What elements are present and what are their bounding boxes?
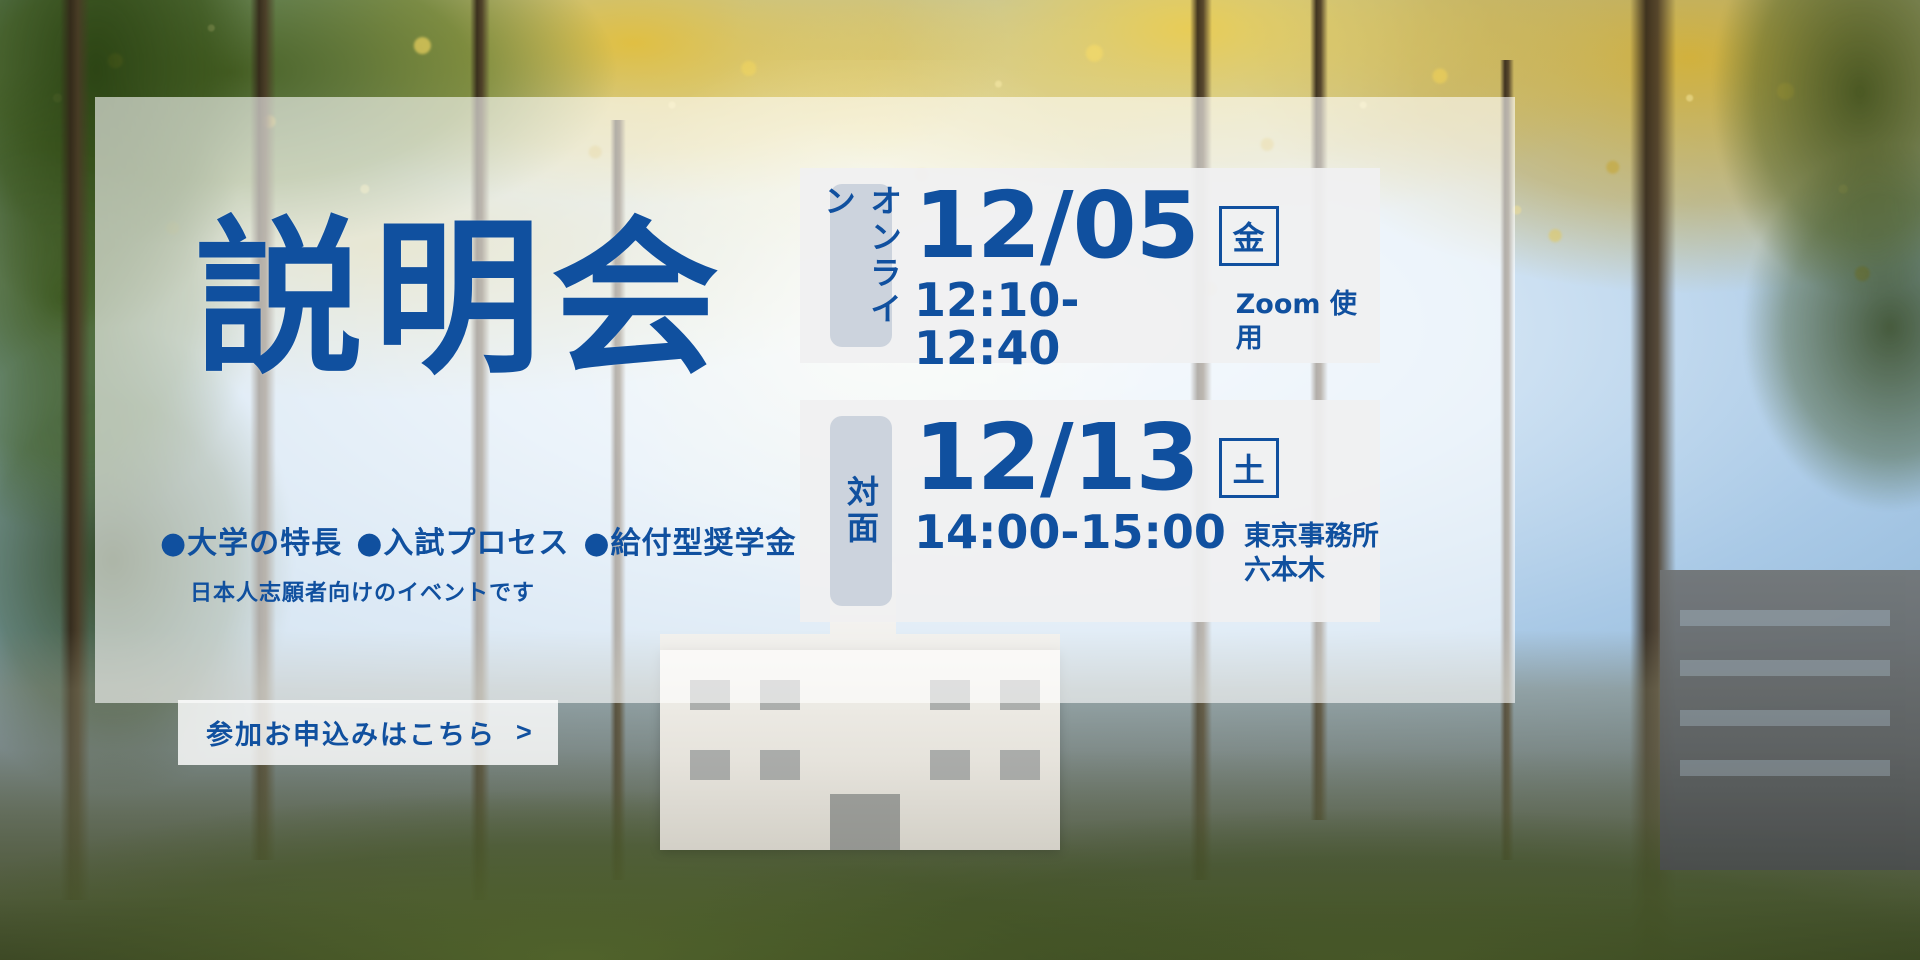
session-time-row: 12:10-12:40 Zoom 使用	[914, 276, 1380, 373]
session-time: 12:10-12:40	[914, 276, 1218, 373]
session-details: 12/13 土 14:00-15:00 東京事務所 六本木	[892, 400, 1380, 622]
session-venue-line2: 六本木	[1244, 554, 1379, 588]
session-day-of-week: 土	[1219, 438, 1279, 498]
session-card-onsite[interactable]: 対面 12/13 土 14:00-15:00 東京事務所 六本木	[800, 400, 1380, 622]
session-date: 12/05	[914, 180, 1199, 272]
right-building	[1660, 570, 1920, 870]
session-time-row: 14:00-15:00 東京事務所 六本木	[914, 508, 1380, 588]
building-window	[1000, 750, 1040, 780]
building-entrance	[830, 794, 900, 850]
session-venue-line1: Zoom 使用	[1236, 289, 1357, 354]
topic-item: ●給付型奨学金	[583, 526, 796, 561]
page-title: 説明会	[195, 215, 729, 383]
apply-button[interactable]: 参加お申込みはこちら >	[178, 700, 558, 765]
session-mode-label: 対面	[838, 475, 884, 547]
building-window	[930, 750, 970, 780]
chevron-right-icon: >	[516, 717, 532, 748]
event-banner: 説明会 ●大学の特長●入試プロセス●給付型奨学金 日本人志願者向けのイベントです…	[0, 0, 1920, 960]
session-venue: Zoom 使用	[1236, 276, 1380, 356]
topic-list: ●大学の特長●入試プロセス●給付型奨学金	[160, 518, 811, 562]
session-mode-chip: オンライン	[830, 184, 892, 347]
topic-item: ●大学の特長	[160, 526, 342, 561]
session-venue: 東京事務所 六本木	[1244, 508, 1379, 588]
building-window	[760, 750, 800, 780]
right-green-foliage	[1680, 0, 1920, 540]
session-time: 14:00-15:00	[914, 508, 1226, 556]
session-mode-chip: 対面	[830, 416, 892, 606]
session-date-row: 12/13 土	[914, 412, 1380, 504]
session-venue-line1: 東京事務所	[1244, 521, 1379, 552]
topic-item: ●入試プロセス	[356, 526, 569, 561]
session-date: 12/13	[914, 412, 1199, 504]
session-date-row: 12/05 金	[914, 180, 1380, 272]
audience-note: 日本人志願者向けのイベントです	[190, 575, 535, 607]
session-day-of-week: 金	[1219, 206, 1279, 266]
session-card-online[interactable]: オンライン 12/05 金 12:10-12:40 Zoom 使用	[800, 168, 1380, 363]
building-window	[690, 750, 730, 780]
session-details: 12/05 金 12:10-12:40 Zoom 使用	[892, 168, 1380, 363]
apply-button-label: 参加お申込みはこちら	[206, 713, 496, 752]
